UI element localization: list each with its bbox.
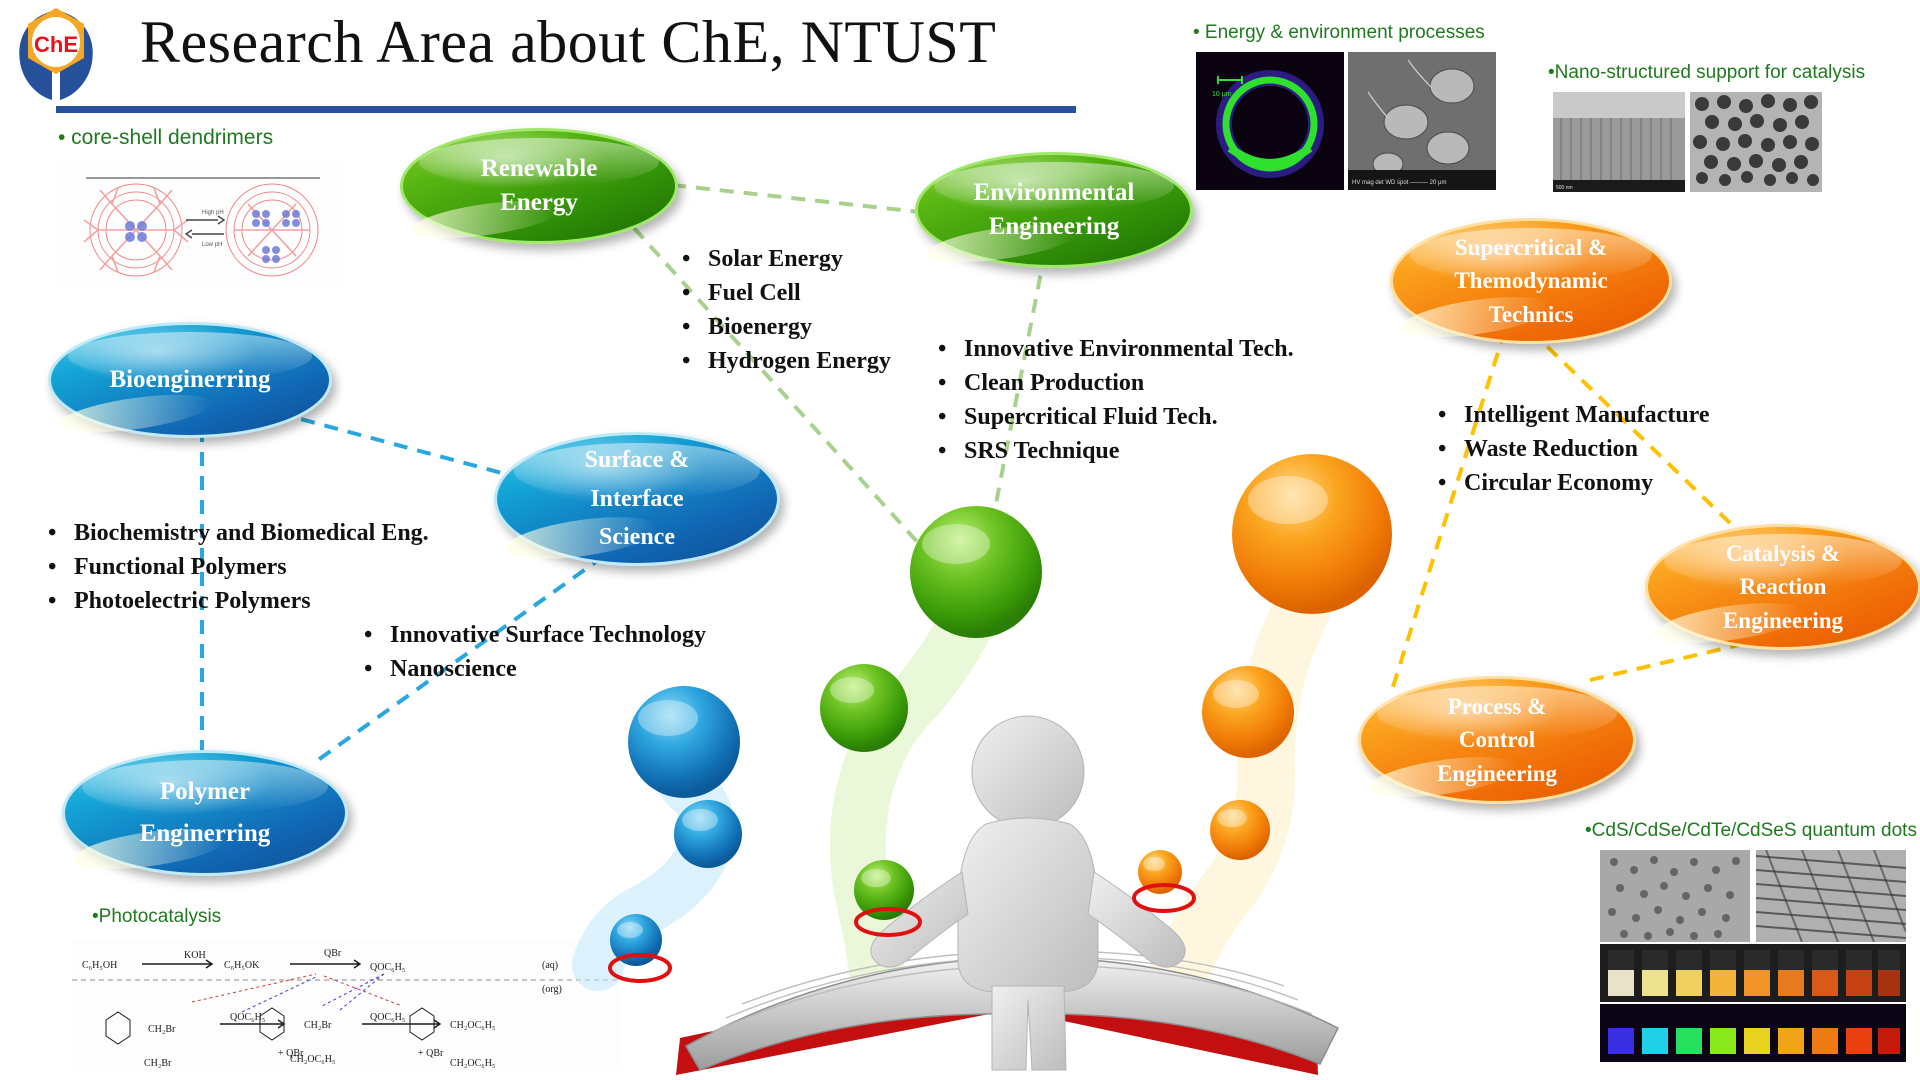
- bullet-dot: •: [938, 370, 964, 397]
- nanoporous-top-view-image: [1690, 92, 1822, 192]
- node-label-line: Control: [1437, 723, 1557, 756]
- bullet-item: •Bioenergy: [682, 314, 891, 341]
- svg-text:Low pH: Low pH: [202, 242, 222, 248]
- node-label-line: Technics: [1454, 298, 1607, 331]
- node-label-line: Science: [585, 518, 690, 556]
- bullet-item: •SRS Technique: [938, 438, 1294, 465]
- bullet-item: •Circular Economy: [1438, 470, 1710, 497]
- node-label-line: Reaction: [1723, 570, 1843, 603]
- qd-vials-daylight-photo: [1600, 944, 1906, 1002]
- bullet-dot: •: [48, 520, 74, 547]
- chem-label: CH₂Br: [144, 1058, 172, 1069]
- chem-label: CH₂OC₆H₅: [450, 1020, 495, 1031]
- bullet-text: Photoelectric Polymers: [74, 588, 311, 615]
- bullet-text: Innovative Surface Technology: [390, 622, 706, 649]
- bullet-text: Innovative Environmental Tech.: [964, 336, 1294, 363]
- chem-label: C₆H₅OH: [82, 960, 117, 971]
- bullets-bioenginerring: •Biochemistry and Biomedical Eng. •Funct…: [48, 520, 429, 622]
- bullet-text: SRS Technique: [964, 438, 1119, 465]
- slide-canvas: ChE Research Area about ChE, NTUST • cor…: [0, 0, 1920, 1080]
- dendrimer-illustration: High pH Low pH: [58, 158, 344, 290]
- bullet-dot: •: [938, 438, 964, 465]
- bullet-dot: •: [938, 336, 964, 363]
- chem-label: QOC₆H₅: [370, 962, 405, 973]
- sem-micrograph-cells: HV mag det WD spot ——— 20 μm: [1348, 52, 1496, 190]
- node-label-line: Engineering: [1723, 604, 1843, 637]
- chem-label: CH₂Br: [304, 1020, 332, 1031]
- bullet-text: Biochemistry and Biomedical Eng.: [74, 520, 429, 547]
- node-label-line: Environmental: [974, 176, 1135, 210]
- bullet-dot: •: [682, 280, 708, 307]
- che-department-logo: ChE: [8, 2, 104, 106]
- node-catalysis-reaction-engineering[interactable]: Catalysis & Reaction Engineering: [1645, 524, 1920, 650]
- bullet-text: Functional Polymers: [74, 554, 287, 581]
- bullet-dot: •: [682, 246, 708, 273]
- node-label-line: Themodynamic: [1454, 264, 1607, 297]
- chem-label: KOH: [184, 950, 206, 961]
- bullet-item: •Intelligent Manufacture: [1438, 402, 1710, 429]
- node-process-control-engineering[interactable]: Process & Control Engineering: [1358, 676, 1636, 804]
- bullet-text: Circular Economy: [1464, 470, 1653, 497]
- node-label-line: Renewable: [481, 152, 598, 186]
- svg-text:10 μm: 10 μm: [1212, 91, 1232, 98]
- chem-label: (org): [542, 984, 562, 995]
- chem-label: CH₂Br: [148, 1024, 176, 1035]
- caption-energy-environment-processes: • Energy & environment processes: [1193, 22, 1485, 44]
- svg-text:High pH: High pH: [202, 210, 224, 216]
- bullet-text: Supercritical Fluid Tech.: [964, 404, 1218, 431]
- bullet-dot: •: [1438, 402, 1464, 429]
- bullets-supercritical: •Intelligent Manufacture •Waste Reductio…: [1438, 402, 1710, 504]
- bullet-item: •Biochemistry and Biomedical Eng.: [48, 520, 429, 547]
- bullet-item: •Solar Energy: [682, 246, 891, 273]
- chem-label: + QBr: [418, 1048, 444, 1059]
- bullet-dot: •: [48, 554, 74, 581]
- node-label-line: Engineering: [974, 210, 1135, 244]
- qd-hrtem-image-right: [1756, 850, 1906, 942]
- photocatalysis-reaction-scheme: C₆H₅OH KOH C₆H₅OK QBr QOC₆H₅ (aq) (org) …: [72, 940, 620, 1070]
- node-label-line: Bioenginerring: [109, 363, 270, 397]
- bullet-item: •Innovative Environmental Tech.: [938, 336, 1294, 363]
- node-label-line: Supercritical &: [1454, 231, 1607, 264]
- nanostructure-cross-section-image: 500 nm: [1553, 92, 1685, 192]
- svg-text:ChE: ChE: [34, 32, 78, 57]
- node-environmental-engineering[interactable]: Environmental Engineering: [915, 152, 1193, 268]
- caption-core-shell-dendrimers: • core-shell dendrimers: [58, 126, 273, 150]
- page-title: Research Area about ChE, NTUST: [140, 8, 1100, 77]
- bullets-renewable-energy: •Solar Energy •Fuel Cell •Bioenergy •Hyd…: [682, 246, 891, 382]
- bullet-text: Solar Energy: [708, 246, 843, 273]
- node-renewable-energy[interactable]: Renewable Energy: [400, 128, 678, 244]
- node-polymer-enginerring[interactable]: Polymer Enginerring: [62, 750, 348, 876]
- caption-nano-structured-support: •Nano-structured support for catalysis: [1548, 62, 1865, 84]
- node-label-line: Energy: [481, 186, 598, 220]
- bullet-item: •Hydrogen Energy: [682, 348, 891, 375]
- bullet-dot: •: [938, 404, 964, 431]
- bullet-dot: •: [364, 622, 390, 649]
- bullet-item: •Waste Reduction: [1438, 436, 1710, 463]
- caption-photocatalysis: •Photocatalysis: [92, 906, 221, 928]
- node-label-line: Process &: [1437, 690, 1557, 723]
- bullet-text: Intelligent Manufacture: [1464, 402, 1710, 429]
- node-label-line: Engineering: [1437, 757, 1557, 790]
- bullet-item: •Fuel Cell: [682, 280, 891, 307]
- bullet-item: •Nanoscience: [364, 656, 706, 683]
- bullet-item: •Supercritical Fluid Tech.: [938, 404, 1294, 431]
- bullet-item: •Clean Production: [938, 370, 1294, 397]
- bullet-text: Waste Reduction: [1464, 436, 1638, 463]
- node-label-line: Interface: [585, 480, 690, 518]
- node-label-line: Catalysis &: [1723, 537, 1843, 570]
- bullet-dot: •: [364, 656, 390, 683]
- node-label-line: Surface &: [585, 441, 690, 479]
- bullet-text: Bioenergy: [708, 314, 812, 341]
- bullet-item: •Functional Polymers: [48, 554, 429, 581]
- node-supercritical-thermodynamic-technics[interactable]: Supercritical & Themodynamic Technics: [1390, 218, 1672, 344]
- chem-label: + QBr: [278, 1048, 304, 1059]
- bullet-text: Nanoscience: [390, 656, 517, 683]
- node-label-line: Enginerring: [140, 813, 271, 856]
- chem-label: CH₂OC₆H₅: [450, 1058, 495, 1069]
- bullet-dot: •: [48, 588, 74, 615]
- bullet-text: Clean Production: [964, 370, 1144, 397]
- bullet-text: Hydrogen Energy: [708, 348, 891, 375]
- chem-label: (aq): [542, 960, 558, 971]
- bullets-surface-interface: •Innovative Surface Technology •Nanoscie…: [364, 622, 706, 690]
- fluorescence-micrograph: 10 μm: [1196, 52, 1344, 190]
- node-bioenginerring[interactable]: Bioenginerring: [48, 322, 332, 438]
- chem-label: QOC₆H₅: [370, 1012, 405, 1023]
- qd-vials-uv-photo: [1600, 1004, 1906, 1062]
- chem-label: QBr: [324, 948, 342, 959]
- svg-text:HV mag det WD spot ——— 20: HV mag det WD spot ——— 20 μm: [1352, 180, 1446, 186]
- qd-tem-image-left: [1600, 850, 1750, 942]
- bullet-text: Fuel Cell: [708, 280, 801, 307]
- bullet-dot: •: [682, 314, 708, 341]
- node-surface-interface-science[interactable]: Surface & Interface Science: [494, 432, 780, 566]
- caption-quantum-dots: •CdS/CdSe/CdTe/CdSeS quantum dots: [1585, 820, 1917, 842]
- bullet-dot: •: [1438, 470, 1464, 497]
- title-underline-rule: [56, 106, 1076, 113]
- bullet-dot: •: [1438, 436, 1464, 463]
- svg-text:500 nm: 500 nm: [1556, 185, 1573, 191]
- bullets-environmental-engineering: •Innovative Environmental Tech. •Clean P…: [938, 336, 1294, 472]
- node-label-line: Polymer: [140, 771, 271, 814]
- bullet-dot: •: [682, 348, 708, 375]
- chem-label: C₆H₅OK: [224, 960, 260, 971]
- bullet-item: •Innovative Surface Technology: [364, 622, 706, 649]
- bullet-item: •Photoelectric Polymers: [48, 588, 429, 615]
